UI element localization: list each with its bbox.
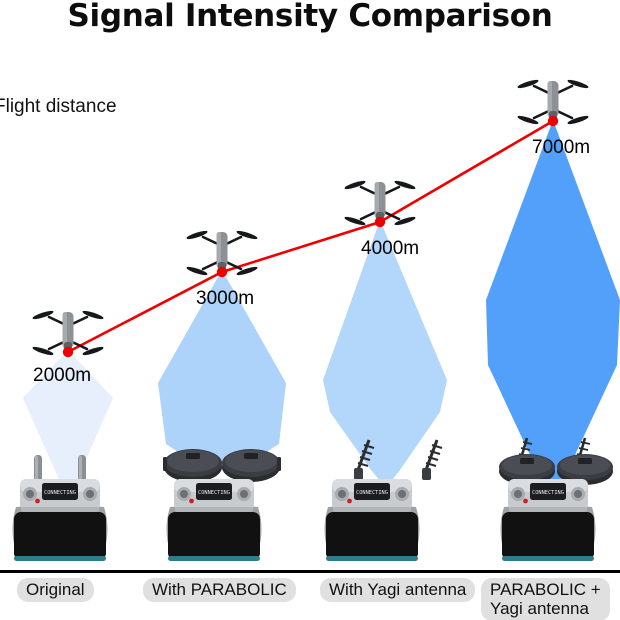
drone-position-dot [63, 347, 73, 357]
drone-parabolic [186, 229, 258, 277]
power-led [189, 499, 194, 504]
distance-label-parabolic: 3000m [196, 288, 254, 310]
drone-yagi [344, 179, 416, 227]
drone-parabolic-yagi [517, 78, 589, 126]
caption-parabolic-yagi: PARABOLIC + Yagi antenna [481, 578, 610, 620]
caption-line-1: PARABOLIC + [490, 580, 601, 599]
drone-original [32, 309, 104, 357]
power-led [523, 499, 528, 504]
drone-position-dot [375, 217, 385, 227]
power-led [347, 499, 352, 504]
drone-position-dot [548, 116, 558, 126]
caption-yagi: With Yagi antenna [320, 578, 475, 602]
signal-cones-layer: CONNECTING [0, 0, 620, 620]
distance-label-original: 2000m [33, 365, 91, 387]
caption-parabolic: With PARABOLIC [143, 578, 296, 602]
caption-original: Original [17, 578, 94, 602]
yagi-antenna-right[interactable] [422, 440, 442, 480]
mobile-device [14, 512, 106, 560]
parabolic-dish-right[interactable] [222, 449, 281, 482]
flight-distance-trend-line [68, 121, 553, 352]
bottom-divider [0, 570, 620, 573]
comparison-infographic: Signal Intensity Comparison Flight dista… [0, 0, 620, 620]
controller-screen-text: CONNECTING [198, 490, 230, 496]
distance-label-parabolic-yagi: 7000m [532, 137, 590, 159]
mobile-device [168, 512, 260, 560]
power-led [35, 499, 40, 504]
drone-position-dot [217, 267, 227, 277]
controller-screen-text: CONNECTING [356, 490, 388, 496]
caption-line-2: Yagi antenna [490, 599, 589, 618]
controller-screen-text: CONNECTING [44, 490, 76, 496]
signal-cone-parabolic-yagi [486, 120, 620, 492]
distance-label-yagi: 4000m [361, 238, 419, 260]
mobile-device [502, 512, 594, 560]
controller-screen-text: CONNECTING [532, 490, 564, 496]
mobile-device [326, 512, 418, 560]
parabolic-dish-left[interactable] [163, 449, 222, 482]
signal-cone-yagi [323, 220, 447, 488]
